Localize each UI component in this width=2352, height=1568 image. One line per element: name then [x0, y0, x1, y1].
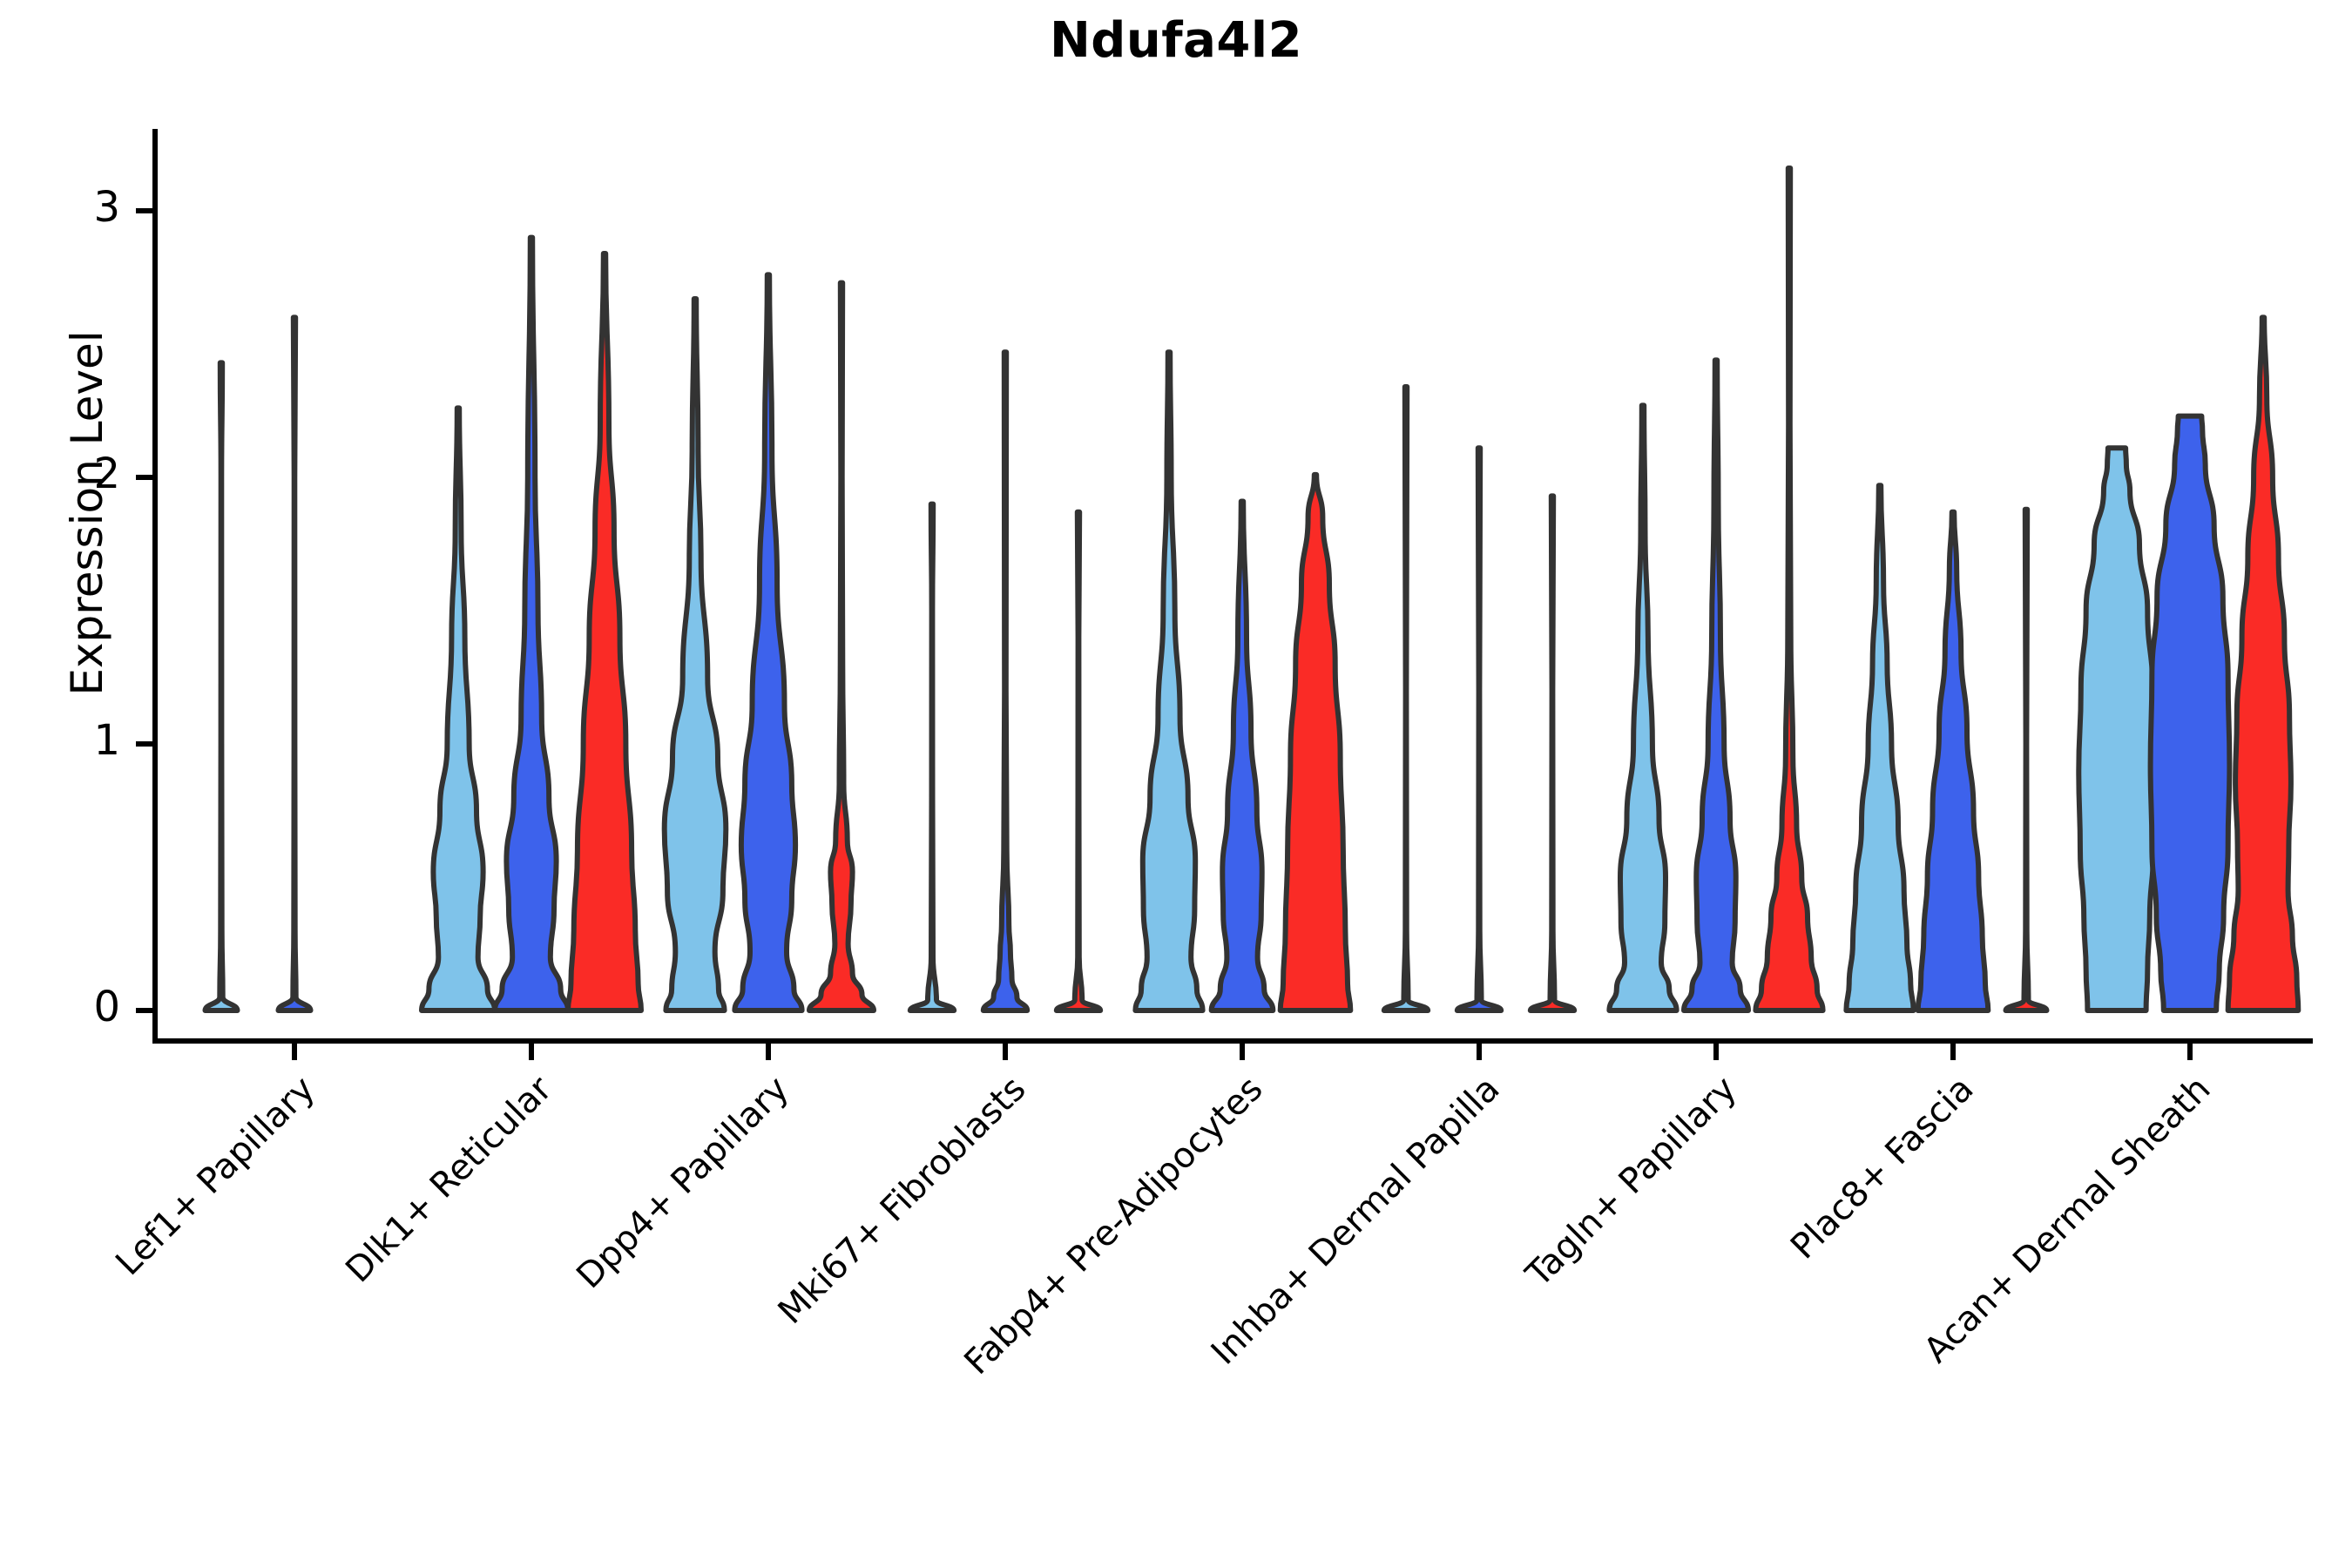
violin-acan-dermal-sheath-group-2-blue — [2151, 416, 2230, 1010]
violin-acan-dermal-sheath-group-1-light-blue — [2078, 448, 2154, 1010]
violin-lef1-papillary-group-2-blue — [279, 317, 311, 1010]
violin-dpp4-papillary-group-3-red — [809, 283, 874, 1010]
violin-plot-figure: Ndufa4l2 Expression Level 0123 Lef1+ Pap… — [0, 0, 2352, 1568]
violin-dpp4-papillary-group-2-blue — [734, 274, 801, 1010]
violin-dlk1-reticular-group-1-light-blue — [422, 408, 495, 1010]
violin-dlk1-reticular-group-3-red — [568, 253, 641, 1010]
violin-tagln-papillary-group-2-blue — [1684, 360, 1748, 1010]
violin-plac8-fascia-group-3-red — [2006, 510, 2047, 1010]
violin-dlk1-reticular-group-2-blue — [495, 238, 568, 1010]
violin-fabp4-pre-adipocytes-group-3-red — [1281, 475, 1351, 1010]
violin-mki67-fibroblasts-group-3-red — [1057, 512, 1100, 1010]
violin-dpp4-papillary-group-1-light-blue — [665, 299, 727, 1010]
violin-lef1-papillary-group-1-light-blue — [206, 362, 238, 1010]
violin-plac8-fascia-group-2-blue — [1918, 512, 1989, 1010]
violin-plac8-fascia-group-1-light-blue — [1846, 485, 1913, 1010]
violin-acan-dermal-sheath-group-3-red — [2228, 317, 2299, 1010]
violin-fabp4-pre-adipocytes-group-1-light-blue — [1135, 352, 1202, 1010]
violin-inhba-dermal-papilla-group-3-red — [1531, 496, 1574, 1010]
violin-fabp4-pre-adipocytes-group-2-blue — [1212, 502, 1274, 1011]
violin-mki67-fibroblasts-group-1-light-blue — [910, 504, 954, 1010]
violin-mki67-fibroblasts-group-2-blue — [983, 352, 1027, 1010]
violin-tagln-papillary-group-1-light-blue — [1609, 405, 1676, 1010]
x-axis-ticks — [294, 1041, 2190, 1060]
y-axis-ticks — [136, 211, 155, 1010]
violin-inhba-dermal-papilla-group-2-blue — [1457, 448, 1501, 1010]
violin-inhba-dermal-papilla-group-1-light-blue — [1384, 387, 1428, 1010]
plot-canvas — [0, 0, 2352, 1568]
violin-tagln-papillary-group-3-red — [1755, 168, 1822, 1010]
violin-layer — [206, 168, 2299, 1010]
